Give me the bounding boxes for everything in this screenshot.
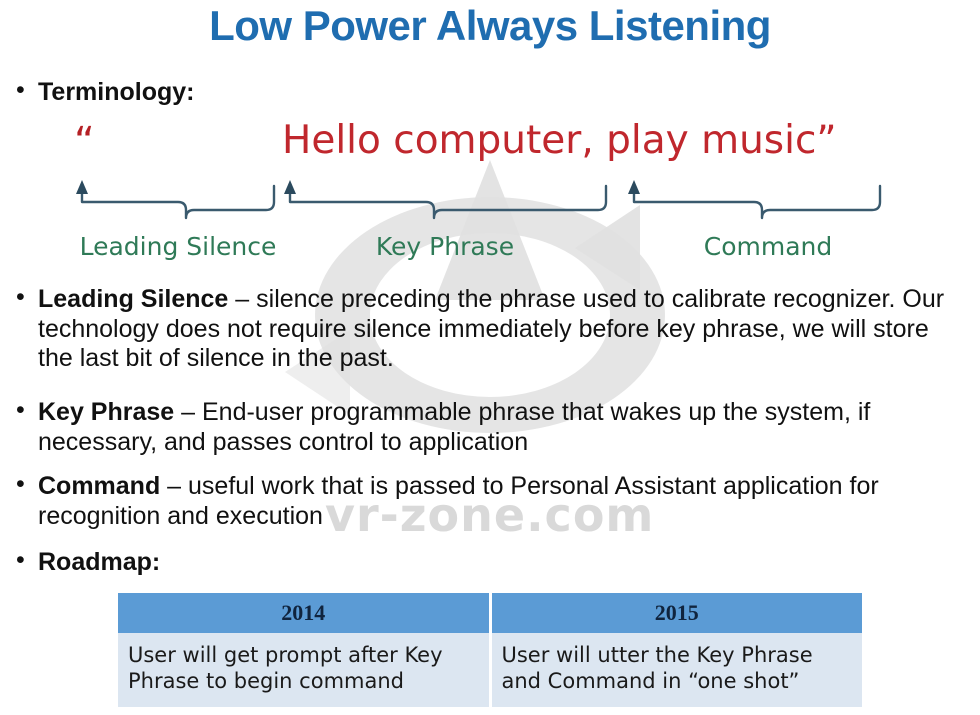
segment-braces — [0, 180, 980, 225]
arrow-tip-command-icon — [628, 180, 640, 194]
bullet-roadmap-label: Roadmap: — [38, 548, 968, 578]
bullet-marker-icon: • — [16, 285, 38, 311]
bullet-key-phrase-term: Key Phrase — [38, 398, 174, 426]
table-cell-2014: User will get prompt after Key Phrase to… — [118, 633, 490, 707]
bullet-marker-icon: • — [16, 398, 38, 424]
bullet-leading-silence-body: Leading Silence – silence preceding the … — [38, 285, 968, 374]
bullet-command-term: Command — [38, 472, 160, 500]
bullet-command: • Command – useful work that is passed t… — [16, 472, 968, 531]
brace-command — [634, 186, 880, 218]
roadmap-table: 2014 2015 User will get prompt after Key… — [118, 593, 862, 707]
table-cell-2015: User will utter the Key Phrase and Comma… — [490, 633, 862, 707]
slide-content: Low Power Always Listening • Terminology… — [0, 0, 980, 710]
segment-label-key-phrase: Key Phrase — [350, 232, 540, 261]
bullet-leading-silence: • Leading Silence – silence preceding th… — [16, 285, 968, 374]
table-header-2014: 2014 — [118, 593, 490, 633]
bullet-roadmap: • Roadmap: — [16, 548, 968, 578]
phrase-opening-quote: “ — [74, 122, 95, 162]
table-row: User will get prompt after Key Phrase to… — [118, 633, 862, 707]
bullet-leading-silence-term: Leading Silence — [38, 285, 228, 313]
segment-label-leading-silence: Leading Silence — [58, 232, 298, 261]
phrase-diagram: “ Hello computer, play music” Leading Si… — [0, 118, 980, 278]
table-header-2015: 2015 — [490, 593, 862, 633]
bullet-command-body: Command – useful work that is passed to … — [38, 472, 968, 531]
arrow-tip-leading-silence-icon — [76, 180, 88, 194]
bullet-command-description: – useful work that is passed to Personal… — [38, 472, 879, 530]
arrow-tip-key-phrase-icon — [284, 180, 296, 194]
brace-leading-silence — [82, 186, 274, 218]
bullet-key-phrase: • Key Phrase – End-user programmable phr… — [16, 398, 968, 457]
segment-label-command: Command — [668, 232, 868, 261]
brace-key-phrase — [290, 186, 606, 218]
bullet-marker-icon: • — [16, 472, 38, 498]
bullet-key-phrase-body: Key Phrase – End-user programmable phras… — [38, 398, 968, 457]
bullet-marker-icon: • — [16, 548, 38, 574]
bullet-terminology: • Terminology: — [16, 78, 968, 108]
phrase-sentence: Hello computer, play music” — [282, 120, 837, 163]
bullet-marker-icon: • — [16, 78, 38, 104]
table-header-row: 2014 2015 — [118, 593, 862, 633]
page-title: Low Power Always Listening — [0, 2, 980, 50]
bullet-terminology-label: Terminology: — [38, 78, 968, 108]
